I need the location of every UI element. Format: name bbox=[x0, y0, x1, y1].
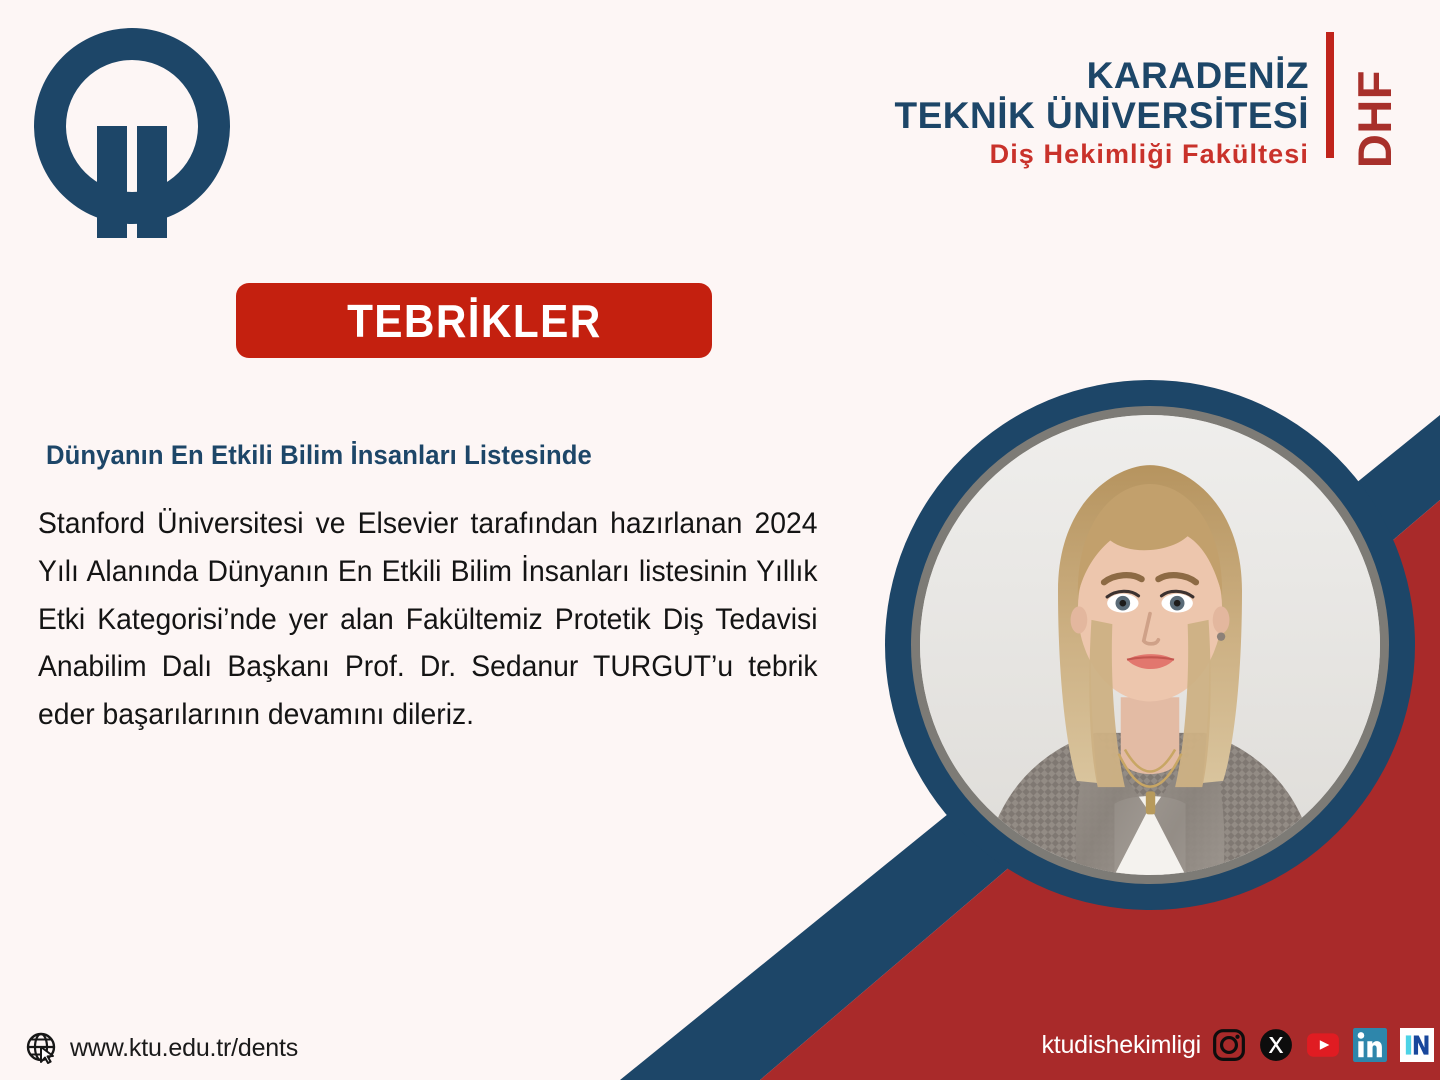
portrait-ring bbox=[885, 380, 1415, 910]
youtube-icon[interactable] bbox=[1306, 1028, 1340, 1062]
emblem-bar-left bbox=[97, 126, 127, 238]
portrait-inner-rim bbox=[911, 406, 1389, 884]
portrait-illustration bbox=[920, 415, 1380, 875]
portrait-photo bbox=[920, 415, 1380, 875]
wordmark-divider-rule bbox=[1326, 32, 1334, 158]
emblem-ring bbox=[34, 28, 230, 224]
x-twitter-icon[interactable] bbox=[1259, 1028, 1293, 1062]
wordmark-dhf-abbrev: DHF bbox=[1351, 70, 1398, 168]
congrats-banner-label: TEBRİKLER bbox=[347, 294, 602, 348]
emblem-bar-right bbox=[137, 126, 167, 238]
social-bar: ktudishekimligi bbox=[1041, 1028, 1434, 1062]
website-link[interactable]: www.ktu.edu.tr/dents bbox=[26, 1032, 298, 1064]
poster-canvas: KARADENİZ TEKNİK ÜNİVERSİTESİ Diş Hekiml… bbox=[0, 0, 1440, 1080]
globe-cursor-icon bbox=[26, 1032, 58, 1064]
n-app-icon[interactable] bbox=[1400, 1028, 1434, 1062]
linkedin-icon[interactable] bbox=[1353, 1028, 1387, 1062]
website-url-text: www.ktu.edu.tr/dents bbox=[70, 1034, 298, 1063]
social-handle: ktudishekimligi bbox=[1041, 1031, 1201, 1060]
congrats-banner: TEBRİKLER bbox=[236, 283, 712, 358]
wordmark-line-2: TEKNİK ÜNİVERSİTESİ bbox=[895, 96, 1310, 136]
announcement-paragraph: Stanford Üniversitesi ve Elsevier tarafı… bbox=[38, 500, 818, 739]
wordmark-line-3: Diş Hekimliği Fakültesi bbox=[895, 136, 1310, 172]
ktu-emblem bbox=[28, 22, 236, 240]
page-headline: Dünyanın En Etkili Bilim İnsanları Liste… bbox=[46, 440, 825, 471]
ktu-emblem-svg bbox=[28, 22, 236, 240]
wordmark-line-1: KARADENİZ bbox=[895, 56, 1310, 96]
ktu-wordmark: KARADENİZ TEKNİK ÜNİVERSİTESİ Diş Hekiml… bbox=[895, 30, 1399, 172]
instagram-icon[interactable] bbox=[1212, 1028, 1246, 1062]
wordmark-text-block: KARADENİZ TEKNİK ÜNİVERSİTESİ Diş Hekiml… bbox=[895, 30, 1310, 172]
